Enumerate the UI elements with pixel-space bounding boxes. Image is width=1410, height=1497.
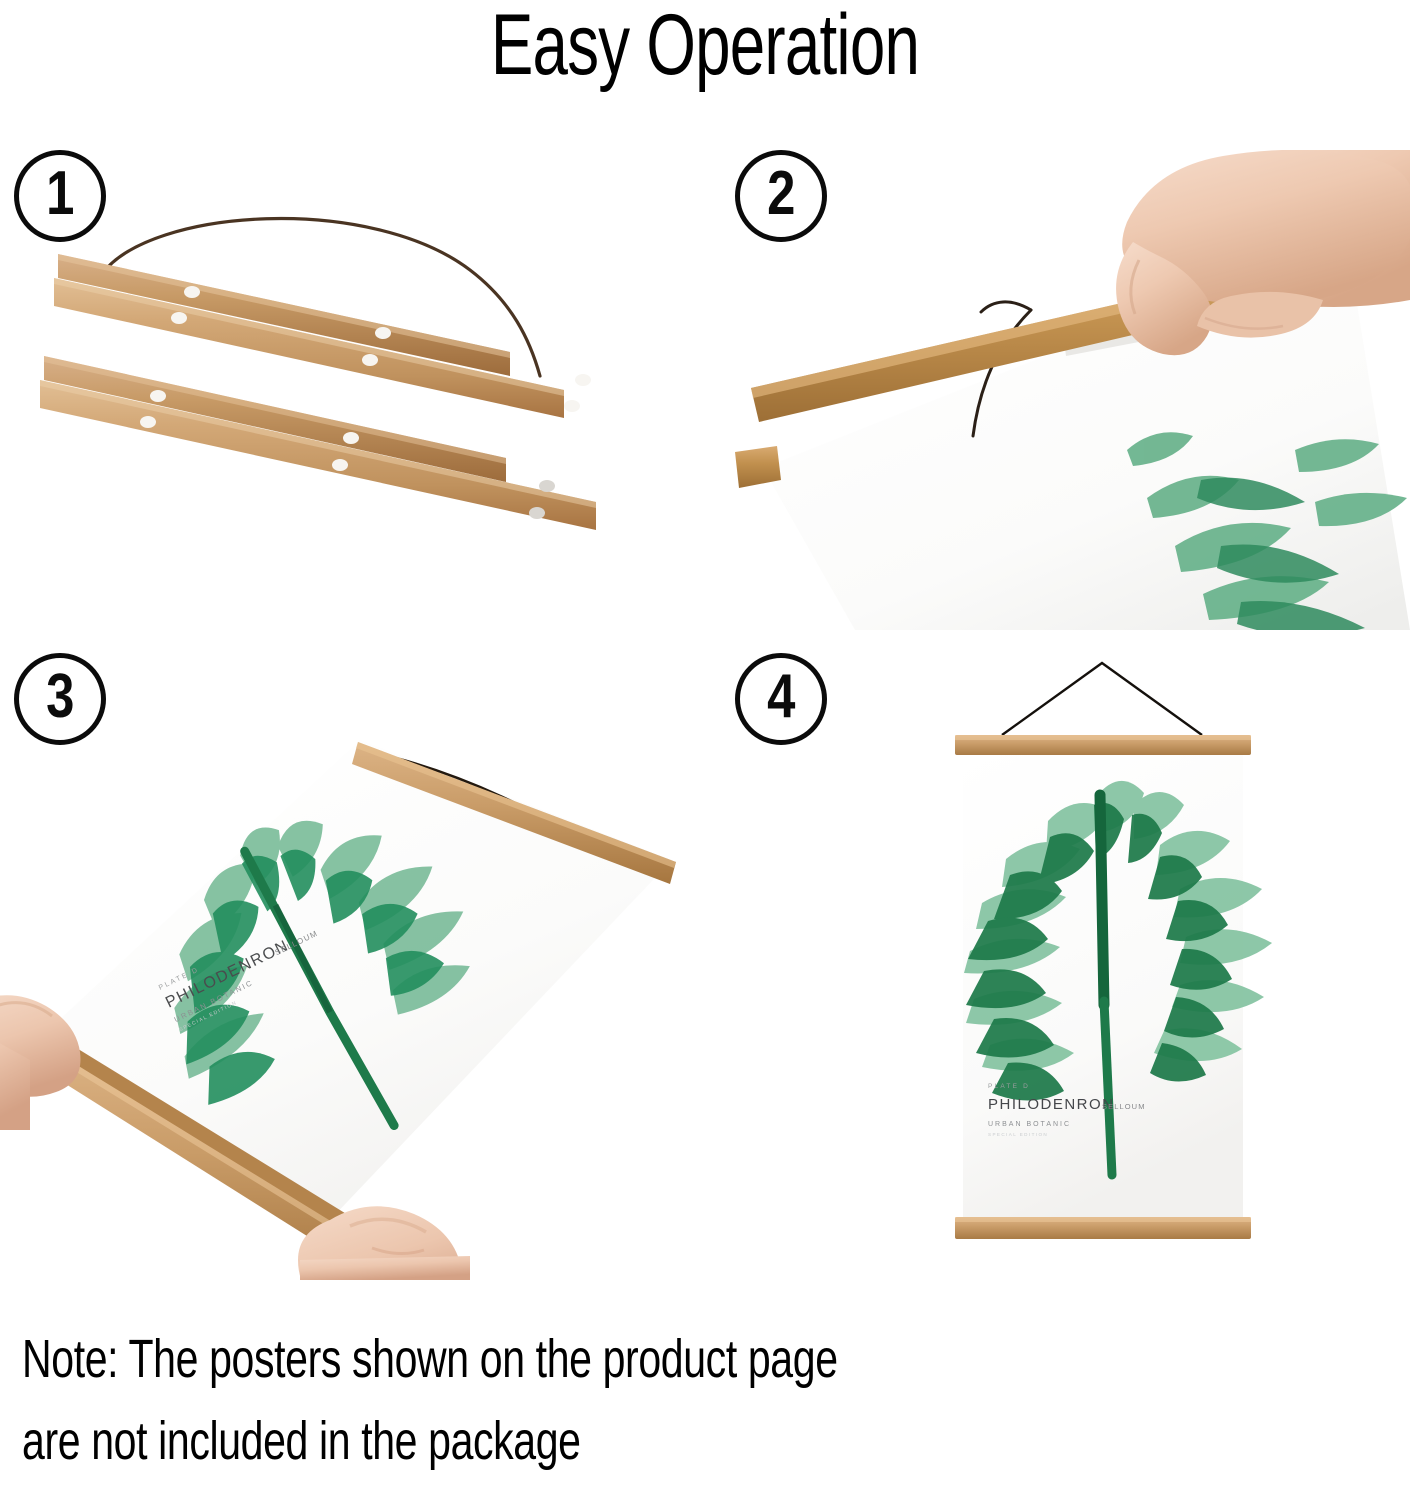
poster-brand-text: URBAN BOTANIC bbox=[988, 1121, 1071, 1128]
hanging-cord bbox=[1002, 663, 1202, 735]
step-badge-1: 1 bbox=[14, 150, 106, 242]
step-number-label: 1 bbox=[46, 163, 74, 225]
poster-variety-text: SELLOUM bbox=[1102, 1102, 1146, 1111]
poster-sheet bbox=[44, 740, 672, 1220]
poster-subline-text: SPECIAL EDITION bbox=[988, 1132, 1048, 1137]
step-2-illustration bbox=[735, 150, 1410, 630]
attach-bottom-bar-diagram: PLATE D PHILODENRON SELLOUM URBAN BOTANI… bbox=[0, 660, 700, 1280]
note-block: Note: The posters shown on the product p… bbox=[22, 1318, 1402, 1482]
note-line-2: are not included in the package bbox=[22, 1400, 1071, 1482]
hung-poster-diagram: PLATE D PHILODENRON SELLOUM URBAN BOTANI… bbox=[930, 645, 1350, 1265]
step-badge-4: 4 bbox=[735, 653, 827, 745]
page-title: Easy Operation bbox=[183, 0, 1226, 95]
step-badge-2: 2 bbox=[735, 150, 827, 242]
poster-species-text: PHILODENRON bbox=[988, 1096, 1115, 1113]
step-badge-3: 3 bbox=[14, 653, 106, 745]
attach-top-bar-diagram bbox=[735, 150, 1410, 630]
step-number-label: 4 bbox=[767, 666, 795, 728]
poster-plate-text: PLATE D bbox=[988, 1083, 1030, 1090]
step-number-label: 3 bbox=[46, 666, 74, 728]
step-4-illustration: PLATE D PHILODENRON SELLOUM URBAN BOTANI… bbox=[930, 645, 1350, 1265]
step-3-illustration: PLATE D PHILODENRON SELLOUM URBAN BOTANI… bbox=[0, 660, 700, 1280]
step-number-label: 2 bbox=[767, 163, 795, 225]
frame-pieces-diagram bbox=[40, 200, 660, 580]
step-1-illustration bbox=[40, 200, 660, 580]
note-line-1: Note: The posters shown on the product p… bbox=[22, 1318, 1071, 1400]
